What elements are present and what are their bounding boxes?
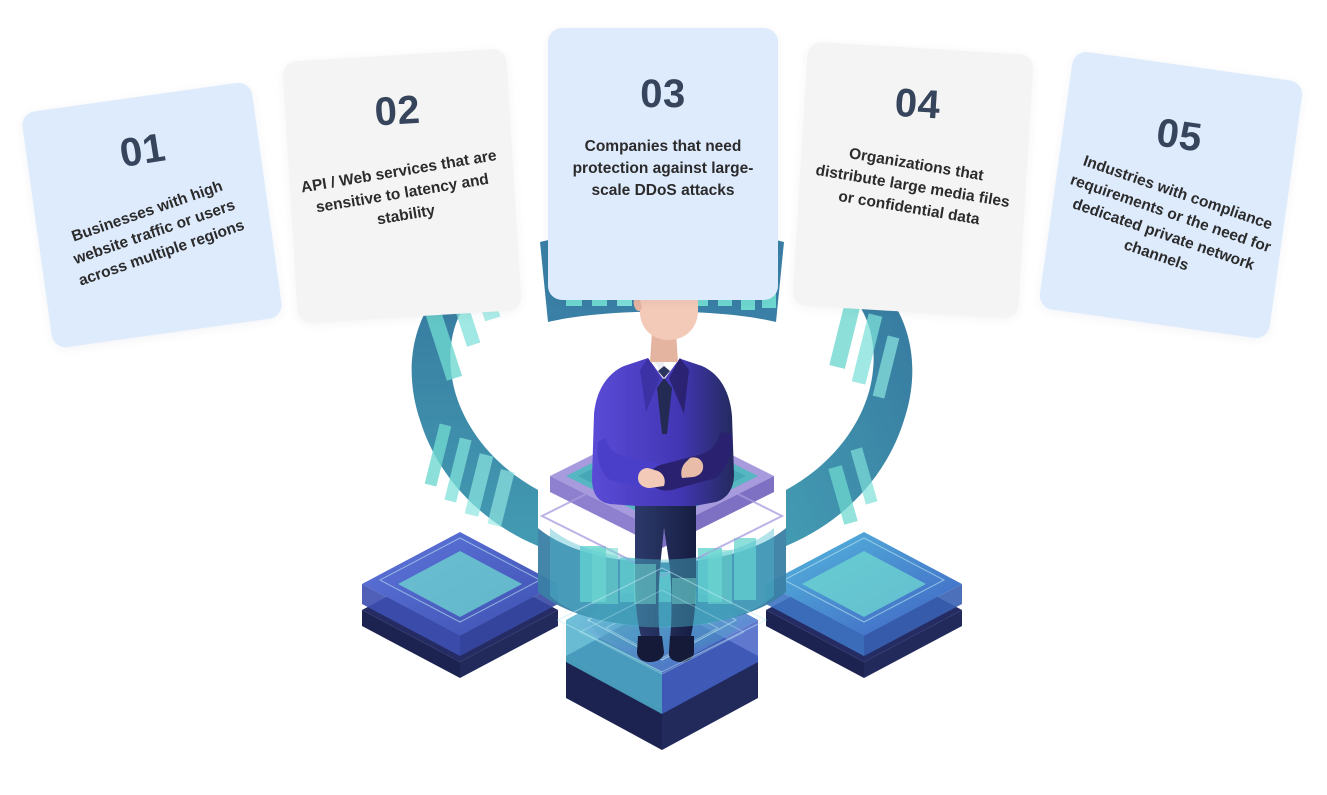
card-text-03: Companies that need protection against l…: [550, 136, 776, 202]
card-text-04: Organizations that distribute large medi…: [798, 136, 1028, 238]
shoe-left: [637, 636, 664, 662]
info-card-03[interactable]: 03 Companies that need protection agains…: [548, 28, 778, 300]
infographic-canvas: 01 Businesses with high website traffic …: [0, 0, 1327, 795]
card-text-01: Businesses with high website traffic or …: [40, 166, 270, 300]
info-card-02[interactable]: 02 API / Web services that are sensitive…: [282, 48, 522, 323]
info-card-05[interactable]: 05 Industries with compliance requiremen…: [1038, 50, 1304, 340]
info-card-04[interactable]: 04 Organizations that distribute large m…: [792, 41, 1034, 318]
info-card-01[interactable]: 01 Businesses with high website traffic …: [21, 81, 284, 349]
card-number-01: 01: [117, 127, 168, 174]
server-cube-left: [362, 532, 558, 678]
card-number-05: 05: [1154, 113, 1205, 159]
card-number-03: 03: [640, 74, 686, 114]
card-number-02: 02: [373, 90, 421, 133]
card-text-05: Industries with compliance requirements …: [1043, 145, 1291, 304]
card-text-02: API / Web services that are sensitive to…: [289, 143, 517, 244]
server-cube-right: [766, 532, 962, 678]
card-number-04: 04: [894, 83, 942, 126]
